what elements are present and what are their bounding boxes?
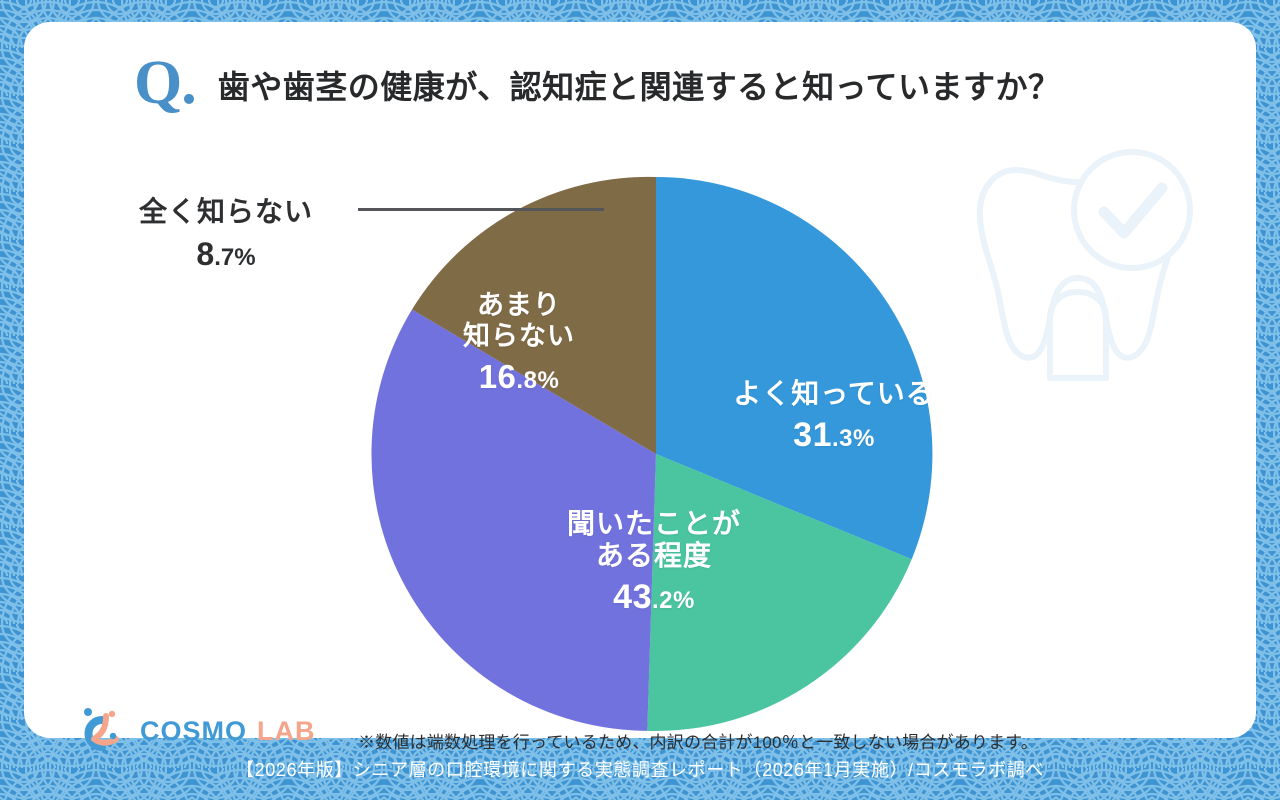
bottom-caption-bar: 【2026年版】シニア層の口腔環境に関する実態調査レポート（2026年1月実施）… <box>0 738 1280 800</box>
page-title: 歯や歯茎の健康が、認知症と関連すると知っていますか？ <box>218 62 1061 108</box>
tooth-check-watermark-icon <box>954 134 1204 384</box>
pie-chart: よく知っている 31.3% 聞いたことが ある程度 43.2% あまり 知らない… <box>354 150 974 770</box>
pie-label-mattaku-shiranai: 全く知らない 8.7% <box>110 190 342 273</box>
question-mark-label: Q. <box>134 52 196 114</box>
header: Q. 歯や歯茎の健康が、認知症と関連すると知っていますか？ <box>24 56 1256 114</box>
report-caption: 【2026年版】シニア層の口腔環境に関する実態調査レポート（2026年1月実施）… <box>236 756 1044 782</box>
content-card: Q. 歯や歯茎の健康が、認知症と関連すると知っていますか？ <box>24 22 1256 738</box>
pie-value-mattaku-shiranai: 8.7% <box>110 236 342 273</box>
pie-leader-line <box>358 208 604 211</box>
